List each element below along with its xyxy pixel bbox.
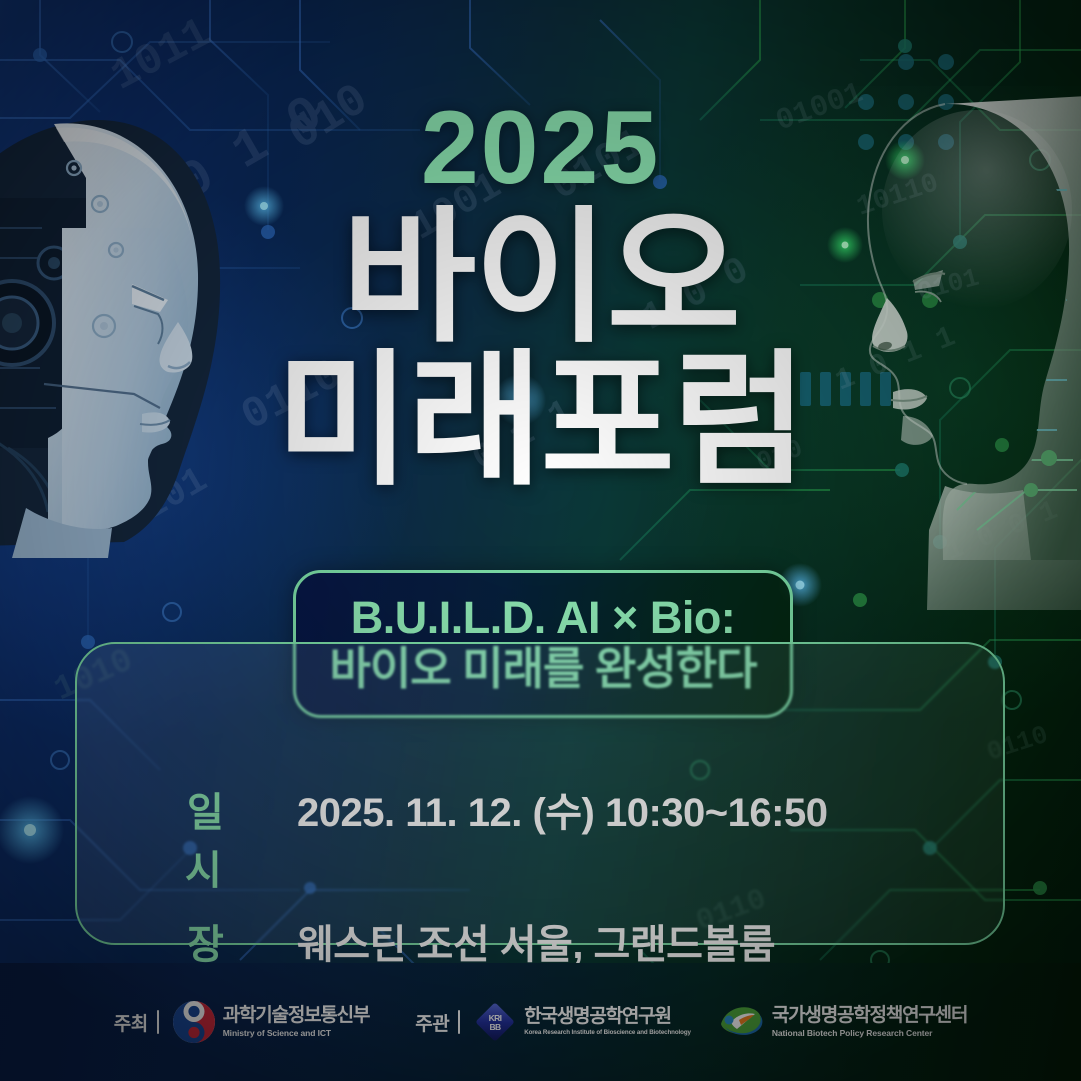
logo-msit: 과학기술정보통신부 Ministry of Science and ICT xyxy=(172,1000,370,1044)
svg-text:010: 010 xyxy=(752,433,806,477)
poster-root: 1011 0 1 0 1101 010 1001 0110 101 0 1 1 … xyxy=(0,0,1081,1081)
svg-text:0101: 0101 xyxy=(543,119,654,211)
info-row-date: 일 시 2025. 11. 12. (수) 10:30~16:50 xyxy=(185,780,827,896)
info-value-date: 2025. 11. 12. (수) 10:30~16:50 xyxy=(297,780,827,838)
info-value-venue: 웨스틴 조선 서울, 그랜드볼룸 xyxy=(297,912,775,970)
taegeuk-icon xyxy=(172,1000,216,1044)
badge-english-text: B.U.I.L.D. AI × Bio: xyxy=(351,594,736,643)
nbprc-swoosh-icon xyxy=(717,1000,765,1044)
msit-name-ko: 과학기술정보통신부 xyxy=(223,1006,370,1025)
nbprc-name-en: National Biotech Policy Research Center xyxy=(772,1029,967,1038)
svg-text:1001: 1001 xyxy=(404,164,510,251)
robot-head-illustration xyxy=(0,108,272,558)
kribb-name-en: Korea Research Institute of Bioscience a… xyxy=(524,1030,691,1036)
nbprc-name-ko: 국가생명공학정책연구센터 xyxy=(772,1006,967,1025)
organizer-tag-label: 주관 xyxy=(415,1009,449,1036)
msit-name-en: Ministry of Science and ICT xyxy=(223,1029,370,1038)
svg-text:1 0 0: 1 0 0 xyxy=(635,249,756,341)
footer-bar: 주최 과학기술정보통신부 Ministry of Science and ICT… xyxy=(0,963,1081,1081)
organizer-divider xyxy=(458,1010,460,1034)
svg-text:0 1 1: 0 1 1 xyxy=(465,391,579,479)
human-head-illustration: 10110 0101 1001 xyxy=(817,90,1081,610)
host-divider xyxy=(157,1010,159,1034)
svg-text:1011: 1011 xyxy=(103,9,220,103)
kribb-diamond-icon: KRI BB xyxy=(473,1000,517,1044)
info-label-date: 일 시 xyxy=(185,780,297,896)
host-tag-label: 주최 xyxy=(114,1009,148,1036)
svg-text:BB: BB xyxy=(490,1022,502,1032)
host-group: 주최 과학기술정보통신부 Ministry of Science and ICT xyxy=(114,1000,370,1044)
logo-kribb: KRI BB 한국생명공학연구원 Korea Research Institut… xyxy=(473,1000,691,1044)
organizer-group: 주관 KRI BB 한국생명공학연구원 Korea Research Insti… xyxy=(415,1000,967,1044)
kribb-name-ko: 한국생명공학연구원 xyxy=(524,1007,691,1026)
logo-nbprc: 국가생명공학정책연구센터 National Biotech Policy Res… xyxy=(717,1000,967,1044)
